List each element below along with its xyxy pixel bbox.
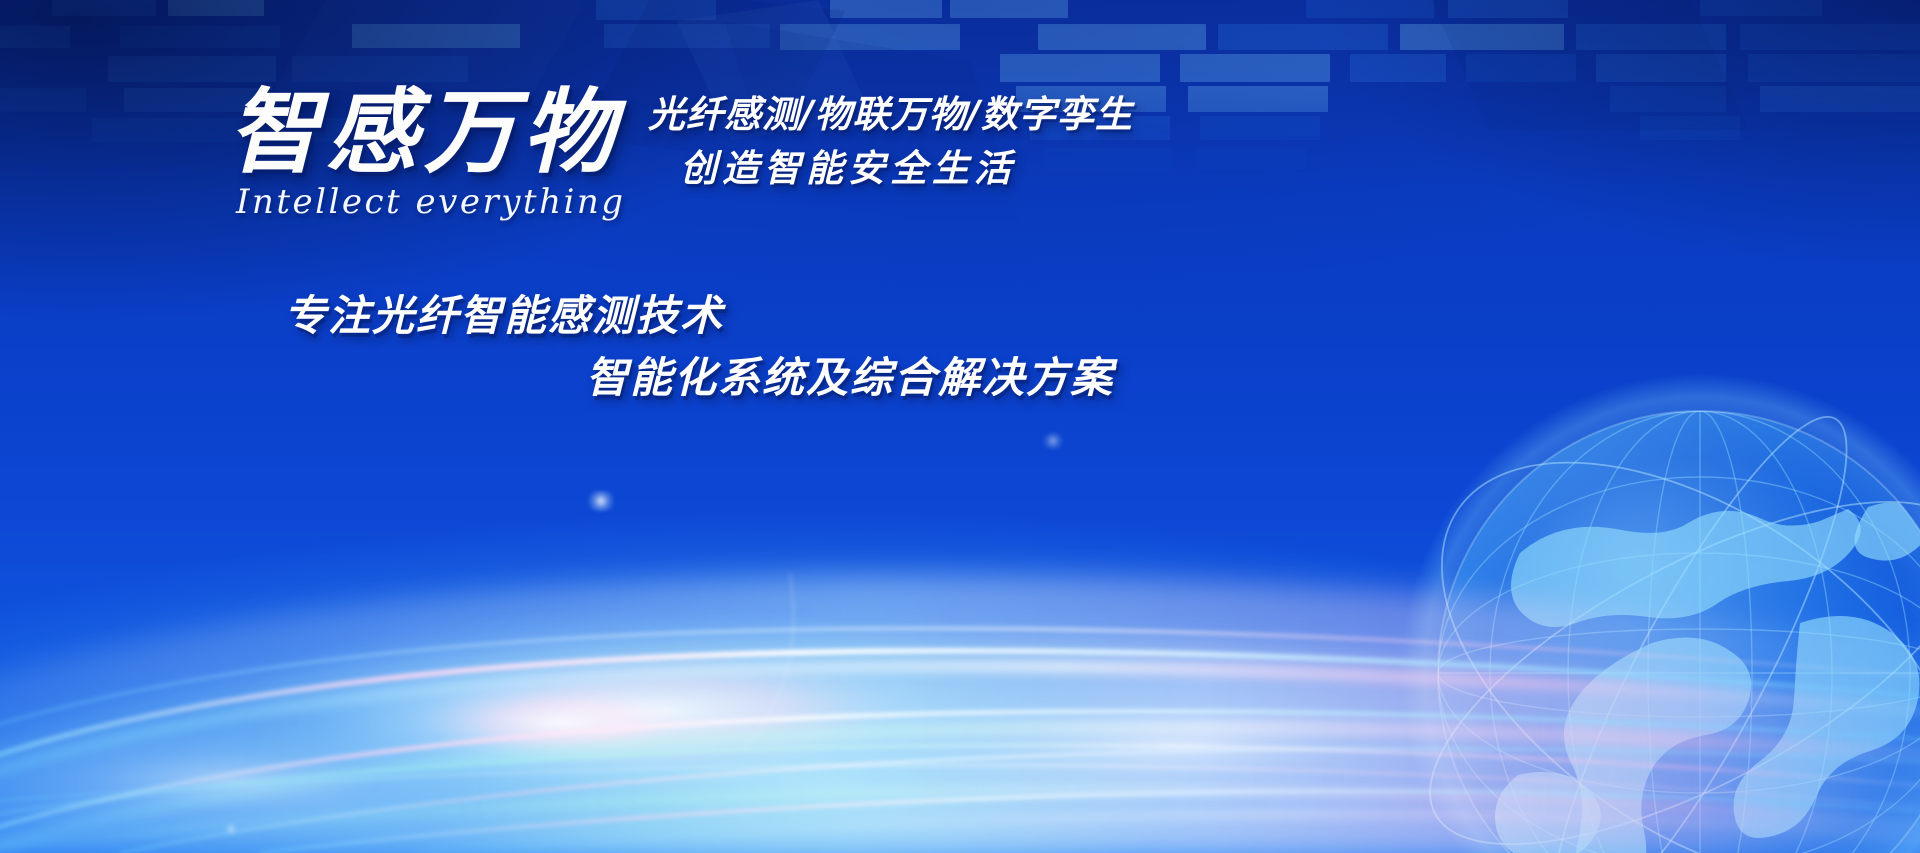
pitch-line-2: 智能化系统及综合解决方案	[284, 347, 1114, 409]
pitch-block: 专注光纤智能感测技术 智能化系统及综合解决方案	[284, 285, 1114, 409]
page-subtitle-english: Intellect everything	[236, 182, 626, 222]
banner-hero: 智感万物 Intellect everything 光纤感测/物联万物/数字孪生…	[0, 0, 1920, 853]
banner-text-layer: 智感万物 Intellect everything 光纤感测/物联万物/数字孪生…	[0, 0, 1920, 853]
tagline-block: 光纤感测/物联万物/数字孪生 创造智能安全生活	[648, 88, 1248, 196]
pitch-line-1: 专注光纤智能感测技术	[284, 285, 1114, 347]
tagline-line-1: 光纤感测/物联万物/数字孪生	[648, 88, 1248, 142]
tagline-line-2: 创造智能安全生活	[648, 142, 1248, 196]
page-title: 智感万物	[228, 86, 620, 178]
